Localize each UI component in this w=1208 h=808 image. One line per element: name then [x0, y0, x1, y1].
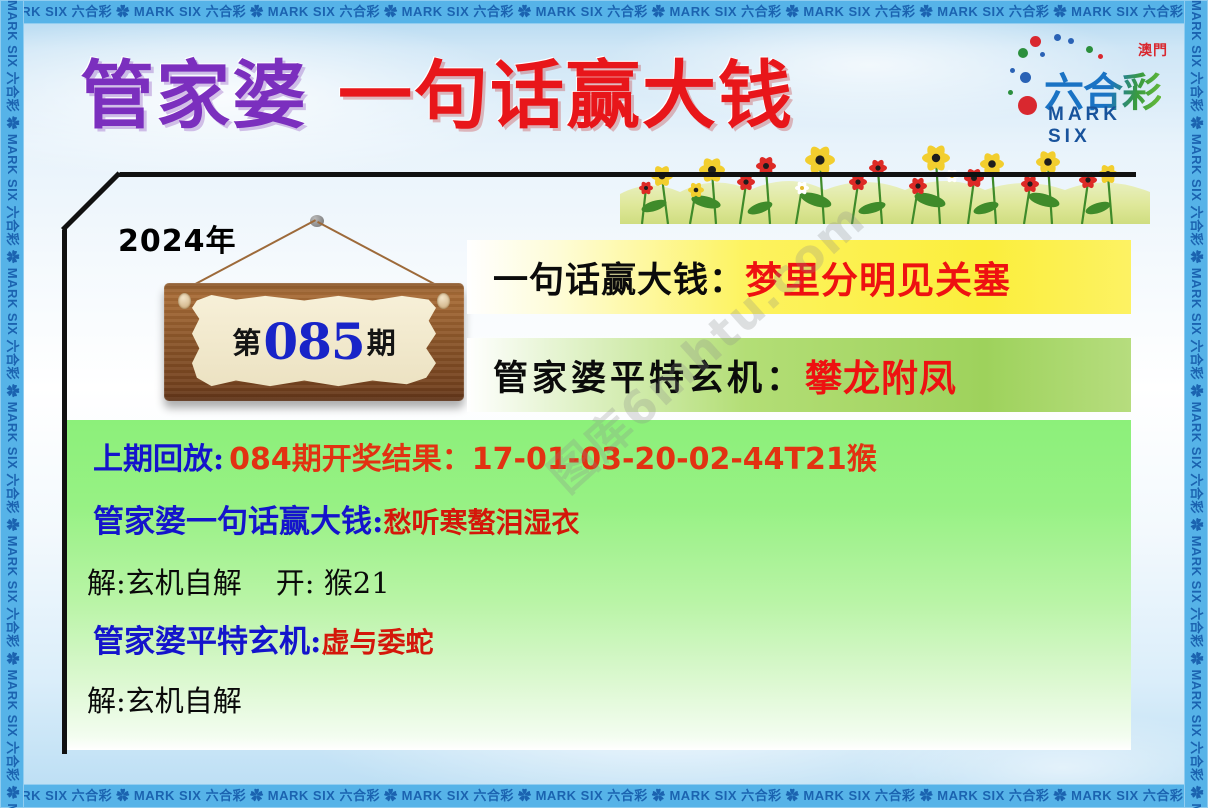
logo-dot	[1010, 68, 1015, 73]
logo-dot	[1018, 96, 1037, 115]
border-pattern-text: MARK SIX 六合彩 ✿ MARK SIX 六合彩 ✿ MARK SIX 六…	[0, 784, 1208, 808]
logo-dot	[1068, 38, 1074, 44]
explain-1-text: 解:玄机自解	[87, 566, 242, 600]
logo-dot	[1008, 90, 1013, 95]
logo-dot	[1030, 36, 1041, 47]
border-strip-left: MARK SIX 六合彩 ✿ MARK SIX 六合彩 ✿ MARK SIX 六…	[0, 0, 24, 808]
yiju-label: 管家婆一句话赢大钱:	[93, 504, 383, 540]
logo-dot	[1054, 34, 1061, 41]
logo-dot	[1040, 52, 1045, 57]
last-draw-label: 上期回放:	[93, 442, 224, 477]
logo-region-label: 澳門	[1138, 40, 1168, 60]
border-strip-bottom: MARK SIX 六合彩 ✿ MARK SIX 六合彩 ✿ MARK SIX 六…	[0, 784, 1208, 808]
content-row-explain-2: 解:玄机自解	[87, 678, 242, 720]
border-strip-top: MARK SIX 六合彩 ✿ MARK SIX 六合彩 ✿ MARK SIX 六…	[0, 0, 1208, 24]
content-row-last-draw: 上期回放: 084期开奖结果：17-01-03-20-02-44T21猴	[93, 434, 877, 478]
issue-number: 第085期	[192, 295, 436, 387]
issue-prefix: 第	[232, 320, 261, 362]
mark-six-logo: 澳門 六合彩 MARK SIX	[1002, 34, 1170, 134]
banner-pingte-label: 管家婆平特玄机：	[467, 350, 805, 401]
banner-yiju: 一句话赢大钱：梦里分明见关塞	[467, 240, 1131, 314]
page-title-brand: 管家婆	[80, 53, 308, 139]
logo-dot	[1098, 54, 1103, 59]
content-row-yiju: 管家婆一句话赢大钱:愁听寒螯泪湿衣	[93, 496, 579, 541]
banner-pingte: 管家婆平特玄机：攀龙附凤	[467, 338, 1131, 412]
sign-screw-left	[178, 293, 191, 309]
sign-board: 第085期	[164, 283, 464, 401]
pingte-label: 管家婆平特玄机:	[93, 624, 321, 660]
banner-yiju-value: 梦里分明见关塞	[745, 250, 1011, 304]
yiju-value: 愁听寒螯泪湿衣	[383, 506, 579, 539]
logo-dot	[1086, 46, 1093, 53]
border-strip-right: MARK SIX 六合彩 ✿ MARK SIX 六合彩 ✿ MARK SIX 六…	[1184, 0, 1208, 808]
sign-rope-left	[183, 219, 316, 291]
banner-yiju-label: 一句话赢大钱：	[467, 252, 745, 303]
issue-value: 085	[263, 312, 364, 371]
hanging-sign: 第085期	[150, 205, 480, 410]
sign-screw-right	[437, 293, 450, 309]
explain-2-text: 解:玄机自解	[87, 684, 242, 718]
page-title-slogan: 一句话赢大钱	[338, 53, 794, 139]
banner-pingte-value: 攀龙附凤	[805, 348, 957, 402]
logo-dot	[1020, 72, 1031, 83]
border-pattern-text: MARK SIX 六合彩 ✿ MARK SIX 六合彩 ✿ MARK SIX 六…	[0, 0, 24, 808]
border-pattern-text: MARK SIX 六合彩 ✿ MARK SIX 六合彩 ✿ MARK SIX 六…	[1184, 0, 1208, 808]
content-panel: 上期回放: 084期开奖结果：17-01-03-20-02-44T21猴 管家婆…	[67, 420, 1131, 750]
content-row-pingte: 管家婆平特玄机:虚与委蛇	[93, 616, 433, 661]
poster-root: MARK SIX 六合彩 ✿ MARK SIX 六合彩 ✿ MARK SIX 六…	[0, 0, 1208, 808]
issue-suffix: 期	[367, 320, 396, 362]
logo-dot	[1018, 48, 1028, 58]
border-pattern-text: MARK SIX 六合彩 ✿ MARK SIX 六合彩 ✿ MARK SIX 六…	[0, 0, 1208, 24]
explain-1-result: 开: 猴21	[276, 566, 390, 600]
last-draw-value: 084期开奖结果：17-01-03-20-02-44T21猴	[229, 442, 877, 477]
content-row-explain-1: 解:玄机自解开: 猴21	[87, 560, 390, 602]
pingte-value: 虚与委蛇	[321, 626, 433, 659]
